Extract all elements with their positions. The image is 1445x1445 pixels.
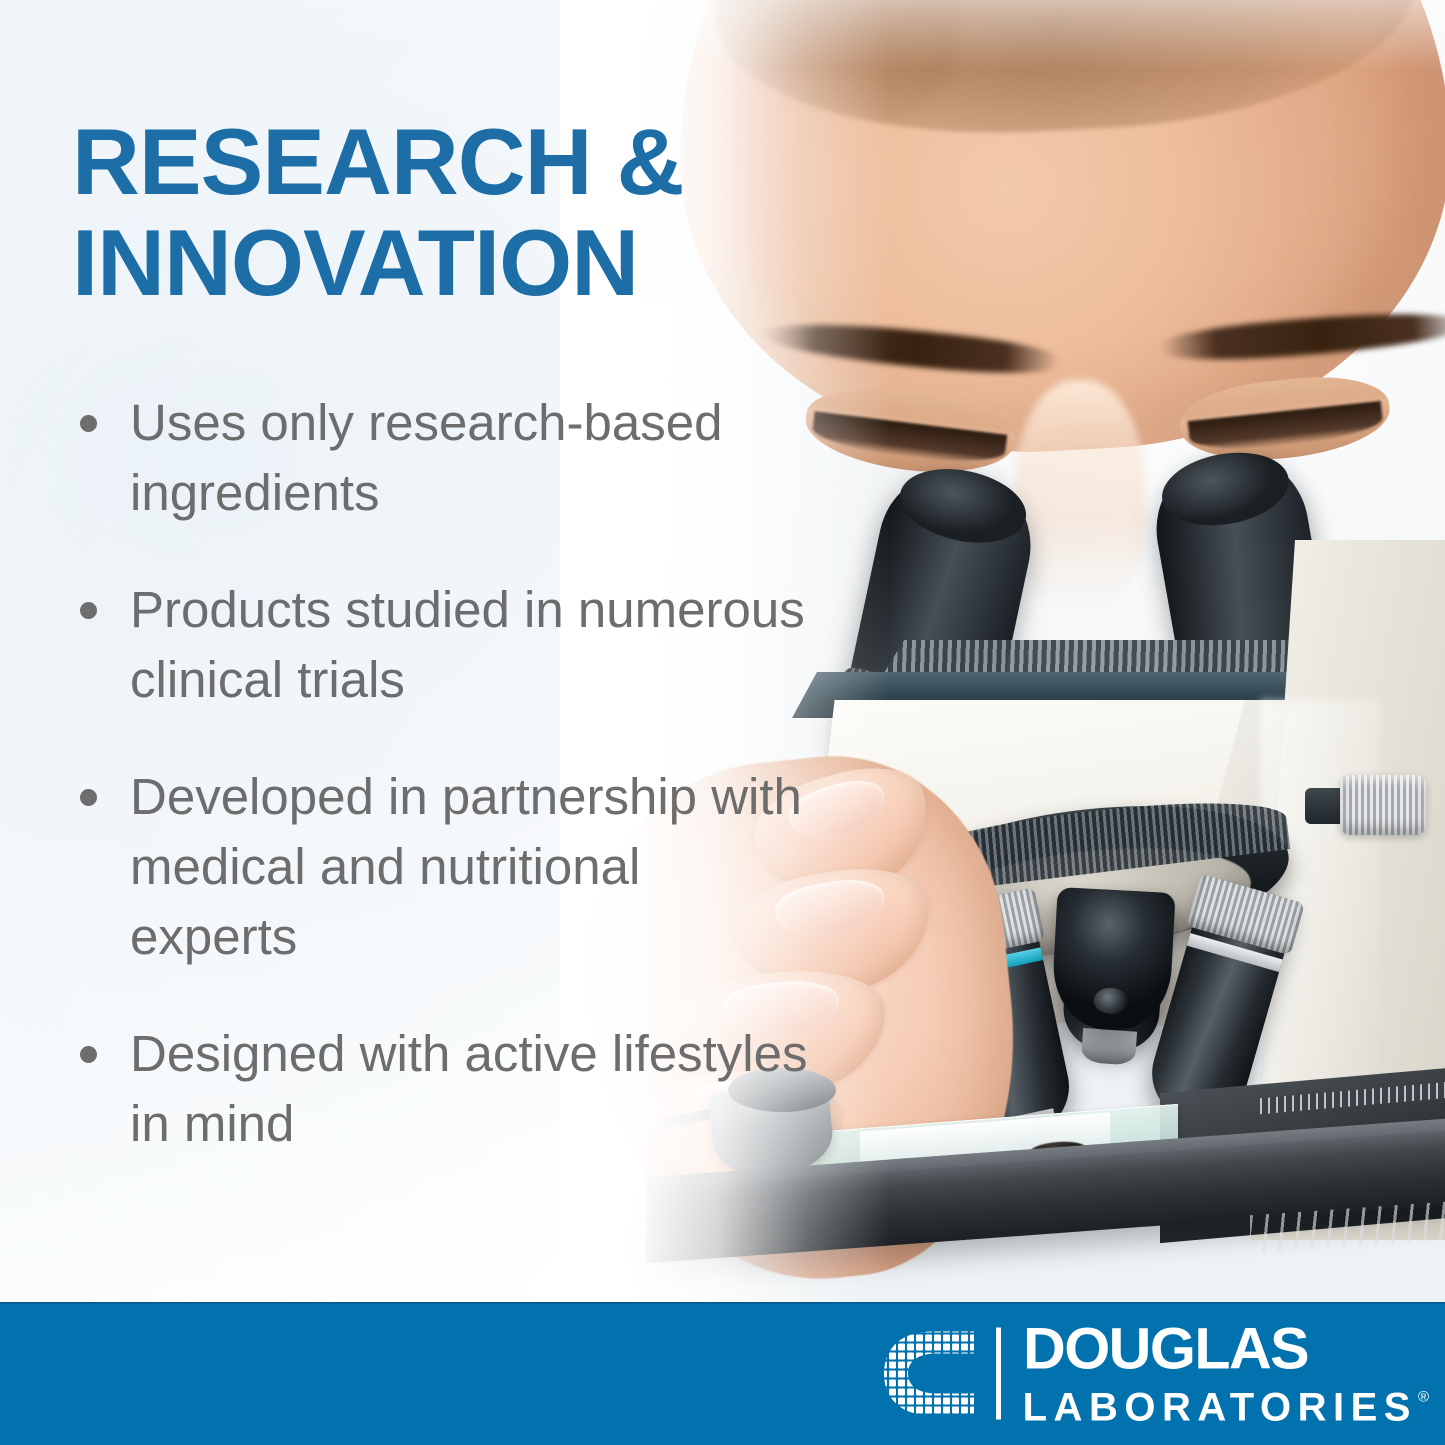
list-item: Products studied in numerous clinical tr… <box>72 575 812 716</box>
logo-divider <box>996 1328 1001 1420</box>
footer-bar: DOUGLAS LABORATORIES ® <box>0 1302 1445 1445</box>
page-title: RESEARCH & INNOVATION <box>72 112 772 313</box>
bullet-dot-icon <box>80 789 97 806</box>
brand-logo: DOUGLAS LABORATORIES ® <box>878 1320 1429 1427</box>
page-title-line-1: RESEARCH & <box>72 112 772 213</box>
bullet-dot-icon <box>80 602 97 619</box>
list-item: Designed with active lifestyles in mind <box>72 1019 812 1160</box>
bullet-dot-icon <box>80 415 97 432</box>
bullet-text: Developed in partnership with medical an… <box>130 762 812 973</box>
logo-brand-name: DOUGLAS <box>1023 1320 1438 1378</box>
bullet-text: Designed with active lifestyles in mind <box>130 1019 812 1160</box>
benefits-list: Uses only research-based ingredients Pro… <box>72 388 812 1159</box>
bullet-dot-icon <box>80 1046 97 1063</box>
logo-brand-sub-row: LABORATORIES ® <box>1023 1387 1429 1427</box>
logo-wordmark: DOUGLAS LABORATORIES ® <box>1023 1320 1429 1427</box>
registered-trademark-icon: ® <box>1418 1389 1429 1404</box>
bullet-text: Uses only research-based ingredients <box>130 388 812 529</box>
footer-top-hairline <box>0 1302 1445 1305</box>
list-item: Developed in partnership with medical an… <box>72 762 812 973</box>
bullet-text: Products studied in numerous clinical tr… <box>130 575 812 716</box>
douglas-grid-g-logo-icon <box>878 1324 982 1424</box>
list-item: Uses only research-based ingredients <box>72 388 812 529</box>
page-title-line-2: INNOVATION <box>72 213 772 314</box>
logo-brand-sub: LABORATORIES <box>1023 1387 1417 1427</box>
marketing-poster: RESEARCH & INNOVATION Uses only research… <box>0 0 1445 1445</box>
